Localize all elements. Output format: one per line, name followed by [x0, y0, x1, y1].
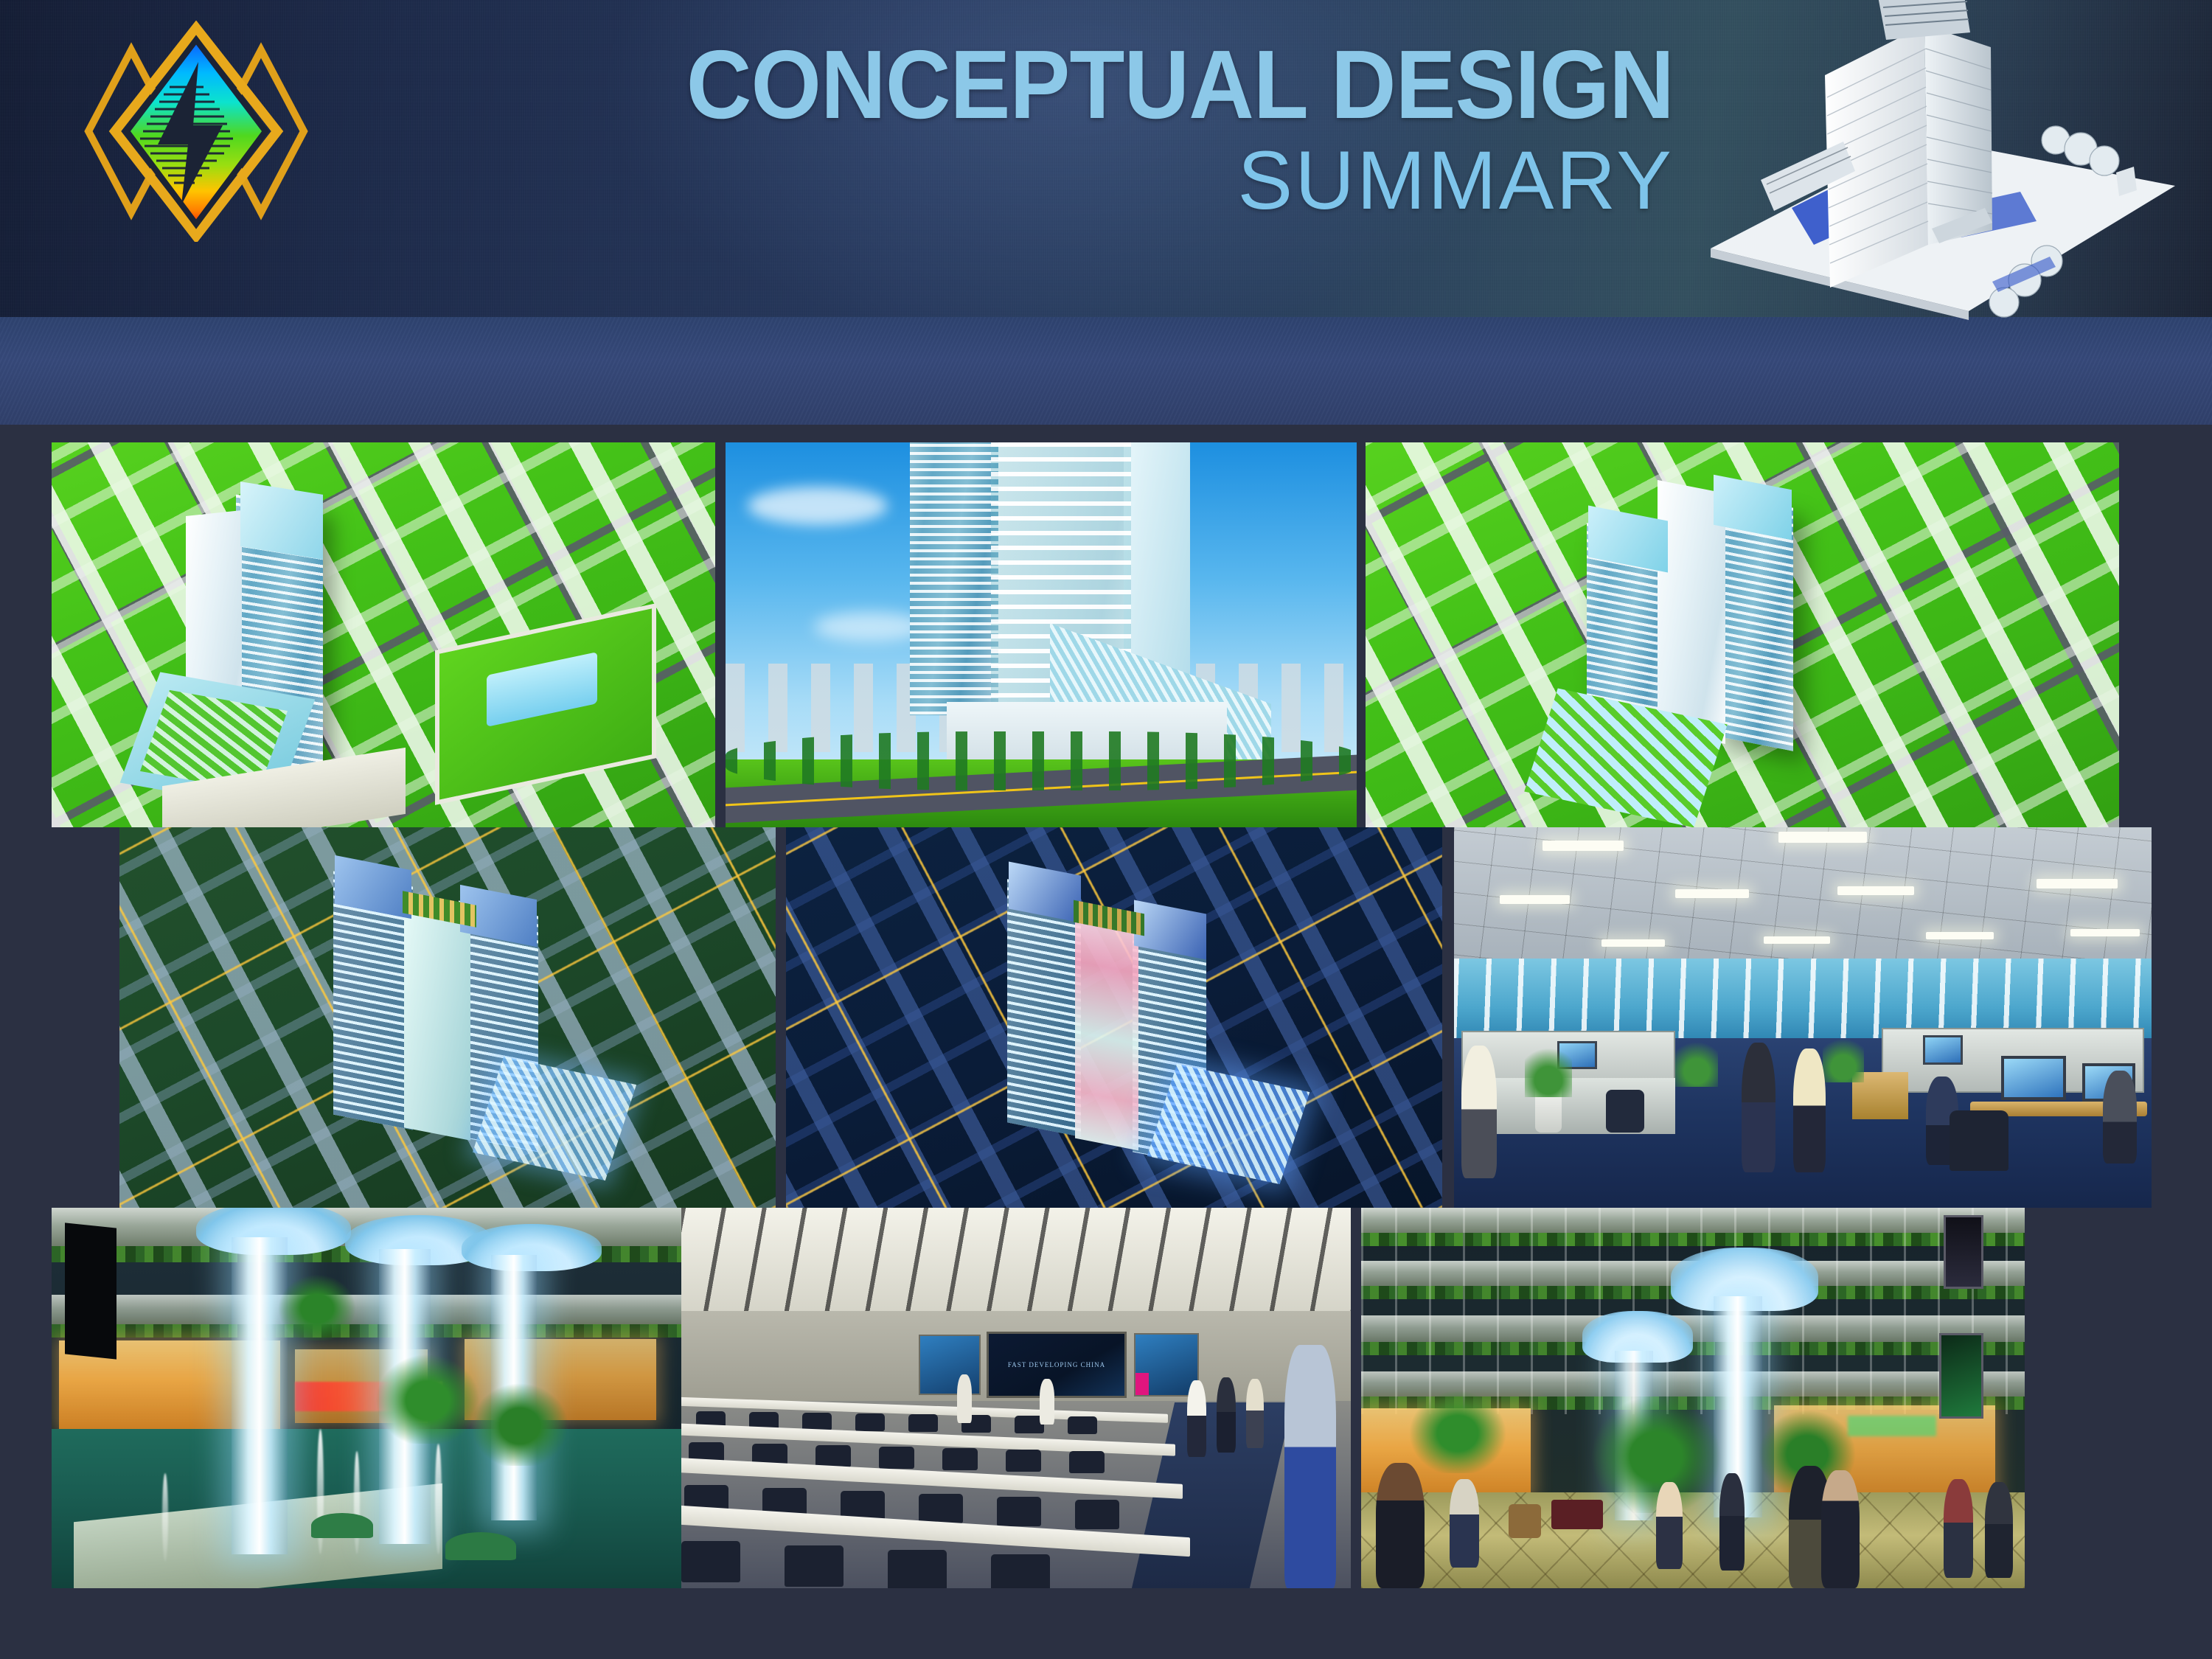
render-aerial-day[interactable]	[52, 442, 715, 827]
render-office-interior[interactable]	[1454, 827, 2152, 1208]
slide-title-block: CONCEPTUAL DESIGN SUMMARY	[605, 35, 1674, 222]
render-aerial-dusk[interactable]	[119, 827, 776, 1208]
page-subtitle: SUMMARY	[605, 139, 1674, 222]
conference-screen-text: FAST DEVELOPING CHINA	[1008, 1361, 1105, 1368]
render-mall-atrium[interactable]	[52, 1208, 700, 1588]
render-aerial-twin-day[interactable]	[1366, 442, 2119, 827]
slide-header: CONCEPTUAL DESIGN SUMMARY	[0, 0, 2212, 425]
rainbow-diamond-lightning-logo	[63, 21, 329, 242]
page-title: CONCEPTUAL DESIGN	[680, 35, 1674, 135]
render-tower-hero[interactable]	[726, 442, 1357, 827]
render-conference-hall[interactable]: FAST DEVELOPING CHINA	[681, 1208, 1351, 1588]
white-massing-tower-model	[1703, 0, 2212, 333]
render-aerial-night[interactable]	[786, 827, 1442, 1208]
render-mall-concourse[interactable]	[1361, 1208, 2025, 1588]
